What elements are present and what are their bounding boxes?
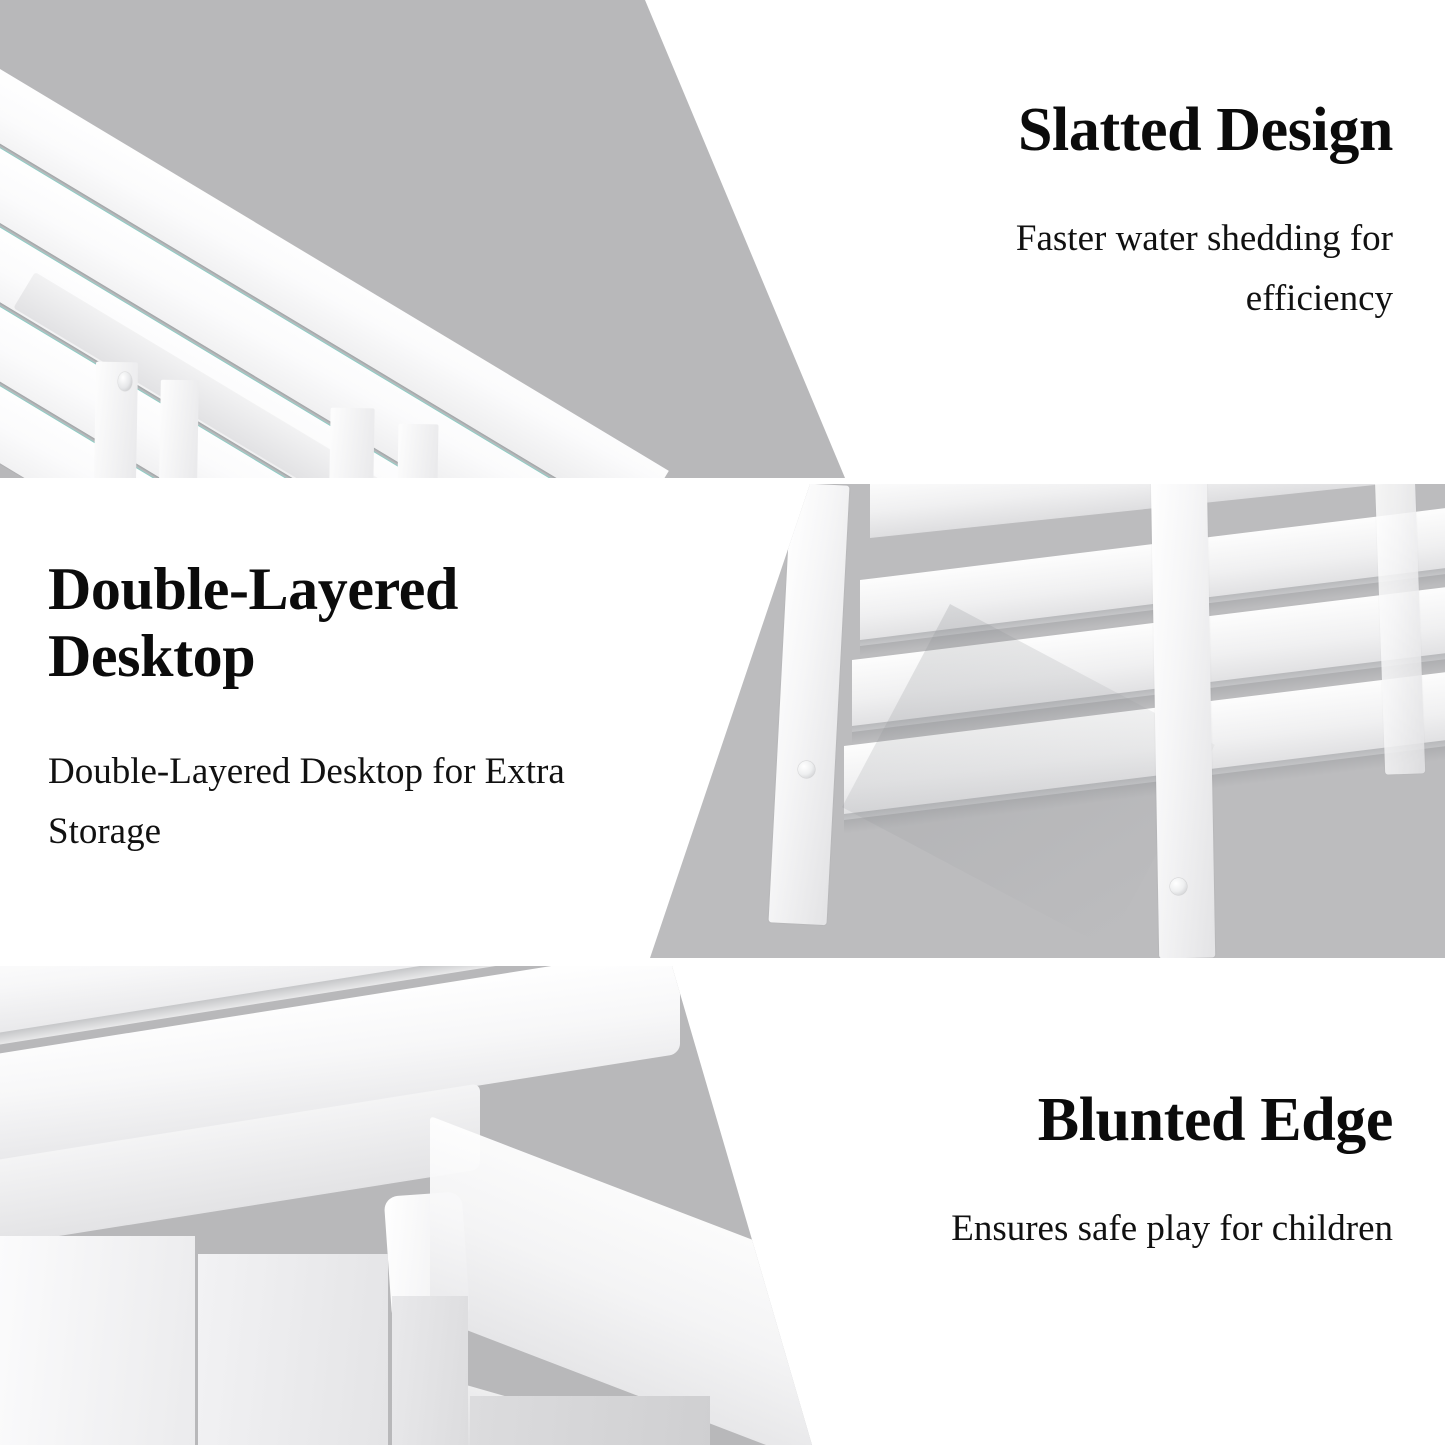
panel-title: Double-Layered Desktop bbox=[48, 556, 608, 690]
bolt-head-icon bbox=[118, 372, 132, 391]
table-leg bbox=[329, 408, 374, 478]
feature-infographic: Slatted Design Faster water shedding for… bbox=[0, 0, 1445, 1445]
feature-copy-blunted-edge: Blunted Edge Ensures safe play for child… bbox=[923, 1086, 1393, 1259]
table-leg-front bbox=[0, 1236, 195, 1445]
feature-copy-double-layered-desktop: Double-Layered Desktop Double-Layered De… bbox=[48, 556, 608, 862]
panel-subtitle: Faster water shedding for efficiency bbox=[923, 209, 1393, 329]
feature-panel-slatted-design: Slatted Design Faster water shedding for… bbox=[0, 0, 1445, 478]
screw-head-icon bbox=[798, 761, 815, 778]
feature-panel-blunted-edge: Blunted Edge Ensures safe play for child… bbox=[0, 966, 1445, 1445]
product-photo-blunted-edge bbox=[0, 966, 820, 1445]
panel-title: Blunted Edge bbox=[923, 1086, 1393, 1155]
table-leg-inner bbox=[198, 1254, 388, 1445]
panel-title: Slatted Design bbox=[923, 96, 1393, 165]
table-leg bbox=[159, 380, 199, 478]
table-leg-back-right bbox=[470, 1396, 710, 1445]
product-photo-double-layered-desktop bbox=[620, 484, 1445, 958]
screw-head-icon bbox=[1170, 878, 1187, 895]
table-leg bbox=[397, 424, 438, 478]
product-photo-slatted-design bbox=[0, 0, 860, 478]
feature-panel-double-layered-desktop: Double-Layered Desktop Double-Layered De… bbox=[0, 484, 1445, 958]
table-leg-front-left bbox=[769, 484, 850, 925]
feature-copy-slatted-design: Slatted Design Faster water shedding for… bbox=[923, 96, 1393, 329]
table-leg-rear bbox=[392, 1296, 468, 1445]
panel-subtitle: Ensures safe play for children bbox=[923, 1199, 1393, 1259]
panel-subtitle: Double-Layered Desktop for Extra Storage bbox=[48, 742, 608, 862]
